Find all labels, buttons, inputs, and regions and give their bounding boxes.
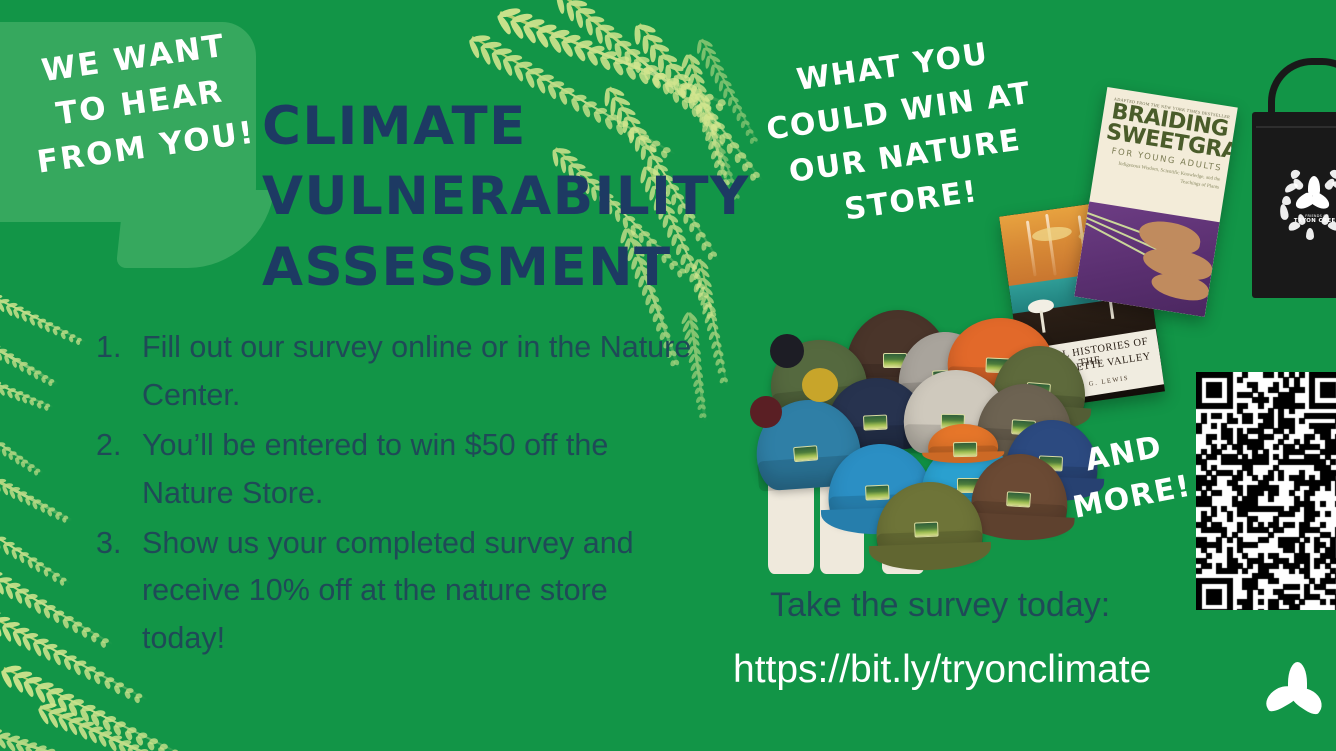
tryon-creek-patch bbox=[1006, 491, 1031, 507]
hat-pompom bbox=[770, 334, 804, 368]
tote-bag-logo-art bbox=[1280, 170, 1336, 242]
instruction-list: 1. Fill out our survey online or in the … bbox=[96, 324, 696, 665]
botanical-motif bbox=[1323, 177, 1336, 191]
tryon-creek-patch bbox=[953, 442, 977, 457]
prize-headline: WHAT YOU COULD WIN AT OUR NATURE STORE! bbox=[746, 25, 1058, 244]
botanical-motif bbox=[1306, 228, 1314, 240]
fern-frond bbox=[33, 691, 206, 751]
speech-bubble-tail bbox=[116, 190, 274, 268]
list-item: 1. Fill out our survey online or in the … bbox=[96, 324, 696, 420]
tote-bag-wordmark: FRIENDS OF TRYON CREEK bbox=[1288, 214, 1336, 225]
botanical-motif bbox=[1282, 196, 1291, 205]
list-item-text: Fill out our survey online or in the Nat… bbox=[142, 324, 696, 420]
fern-frond bbox=[0, 713, 117, 751]
tote-wordmark-line-1: TRYON bbox=[1294, 218, 1316, 224]
poster-canvas: WE WANT TO HEAR FROM YOU! CLIMATE VULNER… bbox=[0, 0, 1336, 751]
tryon-creek-patch bbox=[914, 522, 939, 538]
tote-wordmark-line-2: CREEK bbox=[1318, 218, 1336, 224]
title-line-3: ASSESSMENT bbox=[262, 233, 732, 303]
qr-code-canvas[interactable] bbox=[1196, 372, 1336, 610]
fern-frond bbox=[0, 500, 78, 595]
list-item-number: 1. bbox=[96, 324, 142, 420]
title-line-2: VULNERABILITY bbox=[262, 162, 732, 232]
list-item-text: Show us your completed survey and receiv… bbox=[142, 520, 696, 664]
cta-label: Take the survey today: bbox=[770, 586, 1110, 625]
list-item-number: 2. bbox=[96, 422, 142, 518]
tote-bag-seam bbox=[1256, 126, 1336, 128]
list-item: 3. Show us your completed survey and rec… bbox=[96, 520, 696, 664]
speech-bubble: WE WANT TO HEAR FROM YOU! bbox=[0, 0, 300, 290]
book-cover-art bbox=[1074, 202, 1219, 317]
fern-frond bbox=[0, 453, 78, 531]
tryon-creek-patch bbox=[865, 485, 890, 501]
trillium-petal bbox=[1309, 191, 1332, 212]
hat-pompom bbox=[802, 368, 838, 402]
survey-url[interactable]: https://bit.ly/tryonclimate bbox=[733, 648, 1151, 692]
page-title: CLIMATE VULNERABILITY ASSESSMENT bbox=[262, 92, 732, 303]
list-item-number: 3. bbox=[96, 520, 142, 664]
fern-frond bbox=[0, 314, 64, 395]
fern-frond bbox=[0, 652, 191, 751]
title-line-1: CLIMATE bbox=[262, 92, 732, 162]
hat-pompom bbox=[750, 396, 782, 428]
fern-frond bbox=[0, 402, 50, 483]
book-braiding-sweetgrass: ADAPTED FROM THE NEW YORK TIMES BESTSELL… bbox=[1074, 87, 1238, 317]
list-item: 2. You’ll be entered to win $50 off the … bbox=[96, 422, 696, 518]
fern-frond bbox=[0, 357, 58, 418]
list-item-text: You’ll be entered to win $50 off the Nat… bbox=[142, 422, 696, 518]
qr-code[interactable] bbox=[1196, 372, 1336, 610]
tryon-creek-patch bbox=[793, 445, 818, 462]
tryon-creek-patch bbox=[863, 415, 888, 431]
trillium-logo bbox=[1264, 662, 1330, 732]
hats-collage bbox=[736, 296, 1066, 590]
